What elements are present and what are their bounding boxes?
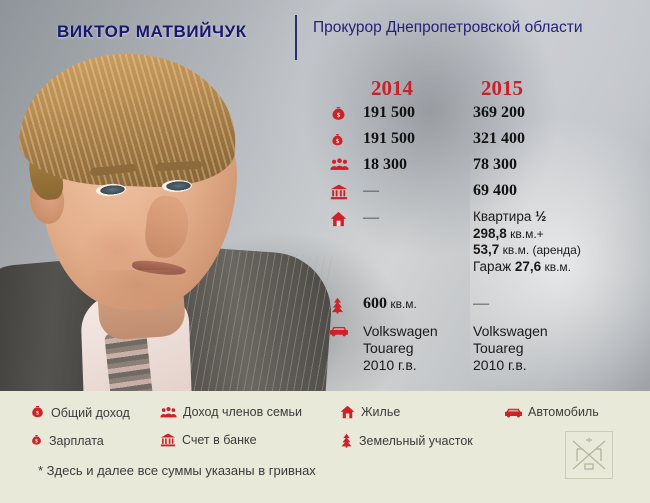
- family-icon: [160, 407, 177, 418]
- legend-group: $ Общий доход Доход членов семьи: [0, 400, 650, 458]
- person-role: Прокурор Днепропетровской области: [313, 17, 633, 38]
- cell-2015: 69 400: [473, 182, 638, 200]
- cell-2014: 191 500: [363, 130, 473, 148]
- car-2015-line-3: 2010 г.в.: [473, 357, 638, 374]
- house-icon: [330, 209, 363, 227]
- housing-line-2: 298,8 кв.м.+: [473, 226, 638, 243]
- legend-item-family-income: Доход членов семьи: [160, 405, 302, 419]
- car-2014-line-2: Touareg: [363, 340, 473, 357]
- legend-item-total-income: $ Общий доход: [30, 405, 130, 420]
- housing-line-1: Квартира ½: [473, 209, 638, 226]
- table-row-bank-account: — 69 400: [330, 182, 650, 200]
- table-header-row: 2014 2015: [330, 76, 650, 102]
- legend-label: Автомобиль: [528, 405, 599, 419]
- table-row-family-income: 18 300 78 300: [330, 156, 650, 174]
- car-2014-line-1: Volkswagen: [363, 323, 473, 340]
- money-bag-total-icon: $: [330, 104, 363, 123]
- cell-2014: 18 300: [363, 156, 473, 174]
- legend-footer: $ Общий доход Доход членов семьи: [0, 391, 650, 503]
- legend-item-salary: $ Зарплата: [30, 433, 104, 448]
- portrait-tie: [104, 330, 154, 391]
- table-row-land: 600 кв.м. —: [330, 295, 650, 314]
- cell-2015: 321 400: [473, 130, 638, 148]
- declaration-table: 2014 2015 $ 191 500 369 200: [330, 76, 650, 374]
- column-header-2014: 2014: [371, 76, 413, 101]
- legend-label: Общий доход: [51, 406, 130, 420]
- header-divider: [295, 15, 297, 60]
- table-row-housing: — Квартира ½ 298,8 кв.м.+ 53,7 кв.м. (ар…: [330, 209, 650, 275]
- portrait-photo: [0, 44, 326, 391]
- tree-icon: [340, 433, 353, 448]
- house-icon: [340, 405, 355, 419]
- housing-line-4: Гараж 27,6 кв.м.: [473, 259, 638, 276]
- housing-line-3: 53,7 кв.м. (аренда): [473, 242, 638, 259]
- bank-icon: [160, 433, 176, 447]
- cell-2015: Квартира ½ 298,8 кв.м.+ 53,7 кв.м. (арен…: [473, 209, 638, 275]
- column-header-2015: 2015: [481, 76, 523, 101]
- svg-text:$: $: [336, 138, 339, 145]
- cell-2014: Volkswagen Touareg 2010 г.в.: [363, 323, 473, 374]
- car-2014-line-3: 2010 г.в.: [363, 357, 473, 374]
- cell-2014: 191 500: [363, 104, 473, 122]
- cell-2015: Volkswagen Touareg 2010 г.в.: [473, 323, 638, 374]
- bank-icon: [330, 182, 363, 200]
- legend-label: Доход членов семьи: [183, 405, 302, 419]
- svg-text:$: $: [35, 438, 38, 445]
- legend-item-car: Автомобиль: [505, 405, 599, 419]
- photo-background: ВИКТОР МАТВИЙЧУК Прокурор Днепропетровск…: [0, 0, 650, 391]
- legend-label: Счет в банке: [182, 433, 257, 447]
- footnote: * Здесь и далее все суммы указаны в грив…: [38, 463, 316, 478]
- svg-text:$: $: [337, 112, 340, 119]
- car-icon: [505, 407, 522, 418]
- svg-text:$: $: [36, 410, 39, 417]
- money-bag-total-icon: $: [30, 405, 45, 420]
- legend-item-housing: Жилье: [340, 405, 400, 419]
- legend-label: Земельный участок: [359, 434, 473, 448]
- crossed-swords-logo: [565, 431, 613, 479]
- tree-icon: [330, 295, 363, 314]
- legend-label: Зарплата: [49, 434, 104, 448]
- person-name: ВИКТОР МАТВИЙЧУК: [57, 22, 247, 42]
- car-icon: [330, 323, 363, 337]
- cell-2014: 600 кв.м.: [363, 295, 473, 313]
- table-row-car: Volkswagen Touareg 2010 г.в. Volkswagen …: [330, 323, 650, 374]
- portrait-chin: [90, 270, 182, 314]
- money-bag-salary-icon: $: [30, 433, 43, 448]
- cell-2015: —: [473, 295, 638, 313]
- car-2015-line-1: Volkswagen: [473, 323, 638, 340]
- legend-item-land: Земельный участок: [340, 433, 473, 448]
- cell-2015: 369 200: [473, 104, 638, 122]
- legend-label: Жилье: [361, 405, 400, 419]
- infographic-root: ВИКТОР МАТВИЙЧУК Прокурор Днепропетровск…: [0, 0, 650, 503]
- table-row-salary: $ 191 500 321 400: [330, 130, 650, 149]
- table-row-total-income: $ 191 500 369 200: [330, 104, 650, 123]
- legend-item-bank-account: Счет в банке: [160, 433, 257, 447]
- cell-2014: —: [363, 209, 473, 227]
- car-2015-line-2: Touareg: [473, 340, 638, 357]
- money-bag-salary-icon: $: [330, 130, 363, 149]
- cell-2015: 78 300: [473, 156, 638, 174]
- family-icon: [330, 156, 363, 171]
- cell-2014: —: [363, 182, 473, 200]
